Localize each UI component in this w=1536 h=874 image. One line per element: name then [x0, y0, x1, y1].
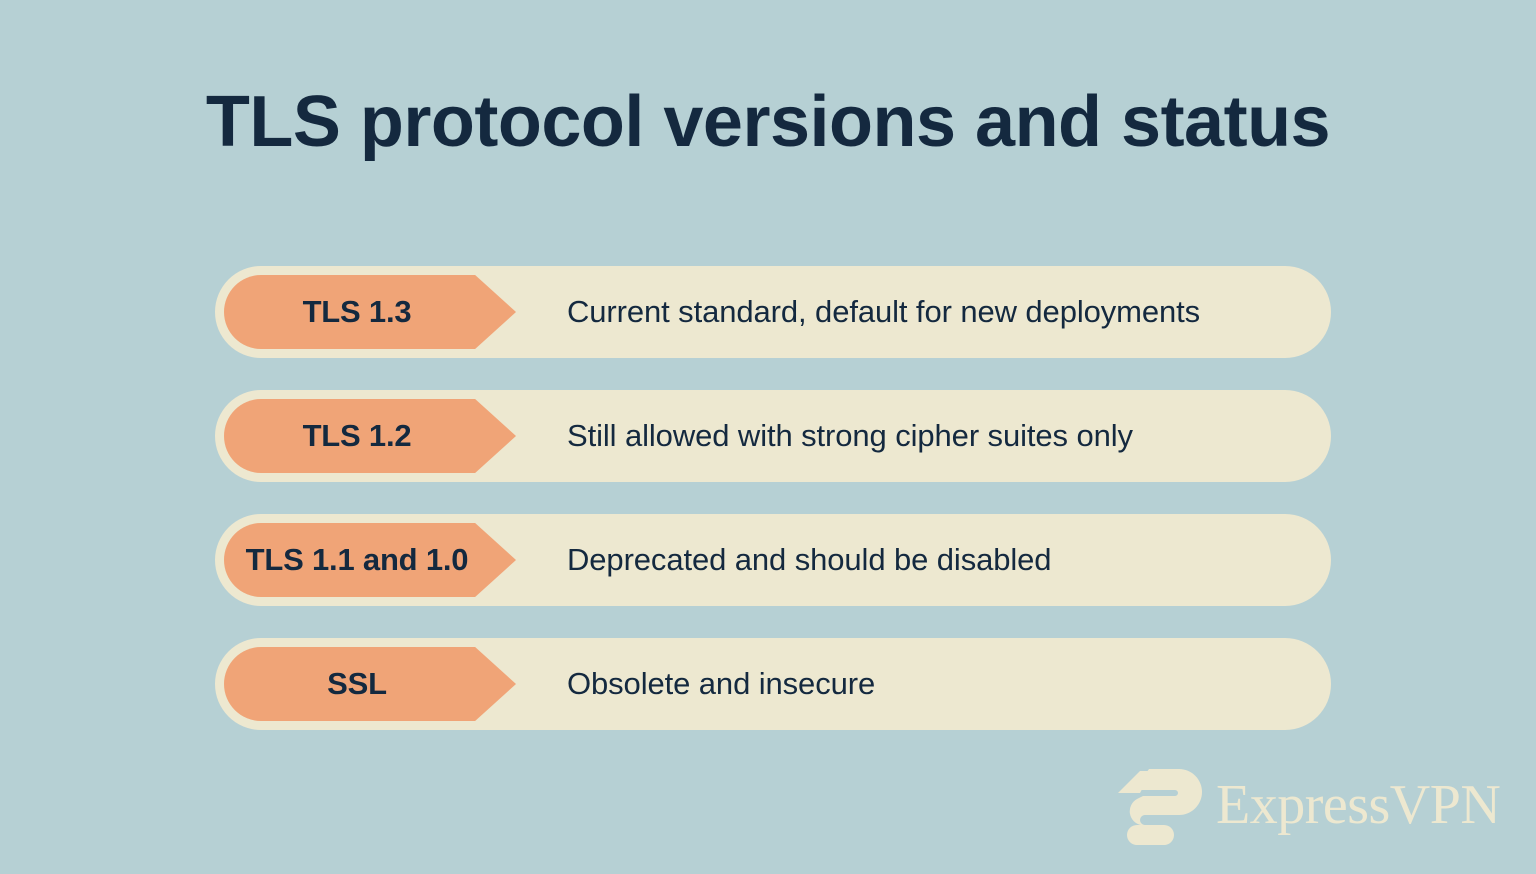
protocol-badge: TLS 1.1 and 1.0 [224, 523, 516, 597]
protocol-badge-inner: TLS 1.1 and 1.0 [224, 523, 516, 597]
protocol-label: TLS 1.2 [303, 418, 412, 454]
protocol-description: Deprecated and should be disabled [567, 514, 1051, 606]
protocol-label: TLS 1.1 and 1.0 [246, 542, 469, 578]
expressvpn-logo: ExpressVPN [1118, 762, 1440, 848]
protocol-badge: TLS 1.3 [224, 275, 516, 349]
list-item: TLS 1.2 Still allowed with strong cipher… [215, 390, 1331, 482]
protocol-label: SSL [327, 666, 387, 702]
expressvpn-wordmark: ExpressVPN [1216, 777, 1500, 833]
protocol-list: TLS 1.3 Current standard, default for ne… [215, 266, 1331, 762]
page-title: TLS protocol versions and status [0, 86, 1536, 158]
list-item: TLS 1.3 Current standard, default for ne… [215, 266, 1331, 358]
protocol-badge: SSL [224, 647, 516, 721]
protocol-badge-inner: SSL [224, 647, 516, 721]
protocol-badge-inner: TLS 1.3 [224, 275, 516, 349]
protocol-badge: TLS 1.2 [224, 399, 516, 473]
list-item: TLS 1.1 and 1.0 Deprecated and should be… [215, 514, 1331, 606]
protocol-description: Still allowed with strong cipher suites … [567, 390, 1133, 482]
infographic-canvas: TLS protocol versions and status TLS 1.3… [0, 0, 1536, 874]
list-item: SSL Obsolete and insecure [215, 638, 1331, 730]
protocol-description: Current standard, default for new deploy… [567, 266, 1200, 358]
protocol-label: TLS 1.3 [303, 294, 412, 330]
protocol-badge-inner: TLS 1.2 [224, 399, 516, 473]
expressvpn-e-icon [1118, 765, 1204, 845]
protocol-description: Obsolete and insecure [567, 638, 875, 730]
